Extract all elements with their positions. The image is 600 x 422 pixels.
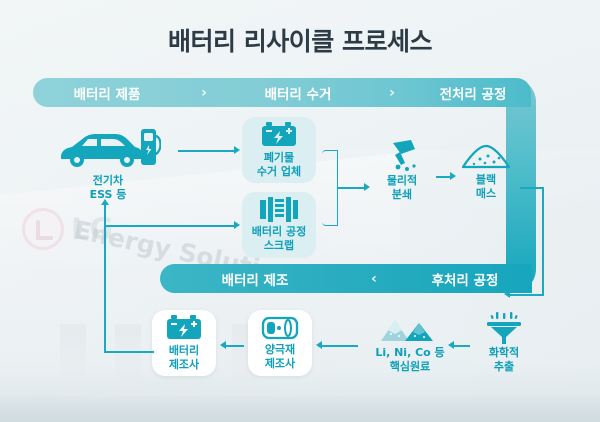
connector-materials-to-cathode	[320, 345, 358, 347]
node-label-chemical-extraction: 화학적 추출	[489, 346, 519, 374]
bottom-bar-segment-manufacturing[interactable]: 배터리 제조	[160, 269, 350, 289]
connector-to-process-scrap	[178, 225, 236, 227]
electrode-sheets-icon	[260, 197, 298, 222]
node-label-black-mass: 블랙 매스	[476, 173, 496, 201]
connector-up-to-ev	[104, 205, 106, 352]
node-key-raw-materials[interactable]: Li, Ni, Co 등 핵심원료	[362, 314, 458, 374]
powder-pile-icon	[460, 143, 512, 171]
node-label-battery-manufacturer: 배터리 제조사	[169, 344, 199, 372]
node-label-waste-collector: 폐기물 수거 업체	[257, 151, 301, 179]
battery-recycle-process-infographic: LG Energy Solution 배터리 리사이클 프로세스 배터리 제품 …	[0, 0, 600, 422]
connector-branch-to-scrap	[105, 225, 180, 227]
node-physical-crushing[interactable]: 물리적 분쇄	[371, 140, 433, 202]
mineral-piles-icon	[379, 314, 441, 344]
chevron-right-icon: ›	[369, 85, 415, 101]
node-label-cathode-manufacturer: 양극재 제조사	[265, 343, 295, 371]
top-bar-segment-collection[interactable]: 배터리 수거	[227, 83, 369, 103]
connector-corner	[104, 351, 106, 353]
arrow-left-icon	[504, 290, 510, 298]
arrow-right-icon	[364, 183, 370, 191]
node-electric-vehicle[interactable]: 전기차 ESS 등	[48, 124, 168, 202]
top-bar-segment-product[interactable]: 배터리 제품	[33, 83, 181, 103]
bottom-process-bar: 배터리 제조 ‹ 후처리 공정	[160, 264, 532, 293]
connector-loop-to-extraction	[508, 294, 544, 296]
node-label-physical-crushing: 물리적 분쇄	[387, 174, 417, 202]
connector-cathode-to-battery	[224, 345, 244, 347]
arrow-right-icon	[450, 172, 456, 180]
arrow-right-icon	[234, 221, 240, 229]
connector-loop-down-2	[542, 250, 544, 295]
cylindrical-cell-icon	[261, 316, 299, 340]
battery-bolt-icon	[167, 315, 201, 341]
node-process-scrap[interactable]: 배터리 공정 스크랩	[242, 192, 316, 258]
arrow-left-icon	[220, 341, 226, 349]
node-waste-collector[interactable]: 폐기물 수거 업체	[242, 117, 316, 183]
funnel-extraction-icon	[484, 312, 524, 344]
connector-blackmass-to-loop	[520, 187, 544, 189]
node-cathode-manufacturer[interactable]: 양극재 제조사	[248, 310, 312, 376]
connector-battery-left	[104, 351, 154, 353]
connector-merge-out	[338, 187, 366, 189]
node-chemical-extraction[interactable]: 화학적 추출	[473, 312, 535, 374]
node-black-mass[interactable]: 블랙 매스	[455, 143, 517, 201]
connector-extraction-to-materials	[452, 345, 470, 347]
node-label-ev: 전기차 ESS 등	[90, 174, 127, 202]
arrow-up-icon	[101, 199, 109, 205]
lg-circle-icon	[22, 208, 64, 250]
page-title: 배터리 리사이클 프로세스	[0, 22, 600, 58]
electric-car-charging-icon	[55, 124, 161, 172]
battery-bolt-icon	[262, 122, 296, 148]
top-process-bar: 배터리 제품 › 배터리 수거 › 전처리 공정	[33, 78, 531, 107]
bottom-bar-segment-posttreatment[interactable]: 후처리 공정	[398, 269, 532, 289]
chevron-left-icon: ‹	[350, 271, 398, 287]
node-label-process-scrap: 배터리 공정 스크랩	[252, 225, 306, 253]
arrow-left-icon	[448, 341, 454, 349]
connector-merge-bracket	[322, 150, 338, 226]
node-battery-manufacturer[interactable]: 배터리 제조사	[152, 310, 216, 376]
top-bar-segment-pretreatment[interactable]: 전처리 공정	[415, 83, 531, 103]
hammer-crush-icon	[381, 140, 423, 172]
background-ground	[0, 396, 600, 422]
arrow-right-icon	[234, 146, 240, 154]
arrow-left-icon	[316, 341, 322, 349]
node-label-key-raw-materials: Li, Ni, Co 등 핵심원료	[375, 346, 444, 374]
connector-ev-to-collector	[178, 150, 236, 152]
chevron-right-icon: ›	[181, 85, 227, 101]
